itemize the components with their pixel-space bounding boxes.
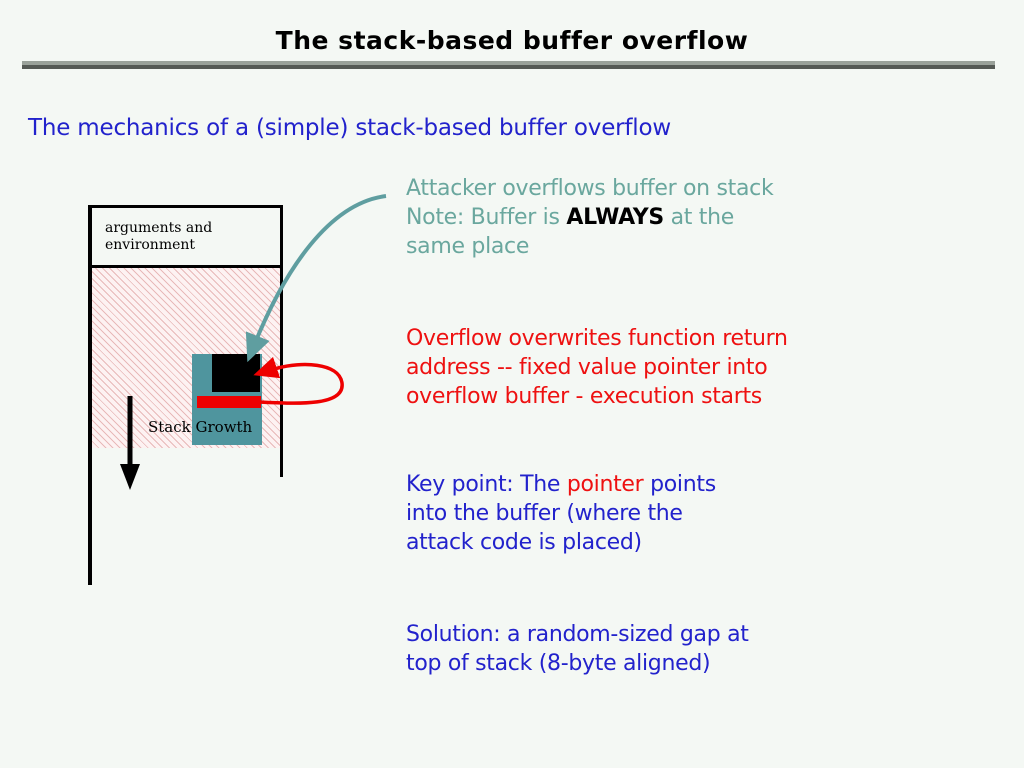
stack-frame-left-line [88,205,92,585]
slide-canvas: The stack-based buffer overflow The mech… [0,0,1024,768]
note-attacker-line1: Attacker overflows buffer on stack [406,176,773,201]
note-attacker-line2-pre: Note: Buffer is [406,205,566,230]
note-keypoint-emphasis: pointer [567,472,644,497]
arguments-environment-label: arguments and environment [105,220,255,254]
attack-code-block [212,354,260,392]
stack-growth-label: Stack Growth [148,418,252,437]
stack-frame-right-line [280,205,283,477]
note-solution: Solution: a random-sized gap at top of s… [406,620,866,678]
note-keypoint-pre: Key point: The [406,472,567,497]
note-keypoint: Key point: The pointer points into the b… [406,470,826,557]
stack-growth-arrow-icon [118,396,142,492]
note-attacker: Attacker overflows buffer on stackNote: … [406,174,926,261]
note-overflow: Overflow overwrites function return addr… [406,324,936,411]
note-attacker-line2-post: at the [664,205,734,230]
stack-diagram: arguments and environment Stack Growth [0,0,420,620]
note-attacker-line3: same place [406,234,529,259]
return-address-slot [197,396,261,408]
note-attacker-emphasis: ALWAYS [566,205,664,230]
